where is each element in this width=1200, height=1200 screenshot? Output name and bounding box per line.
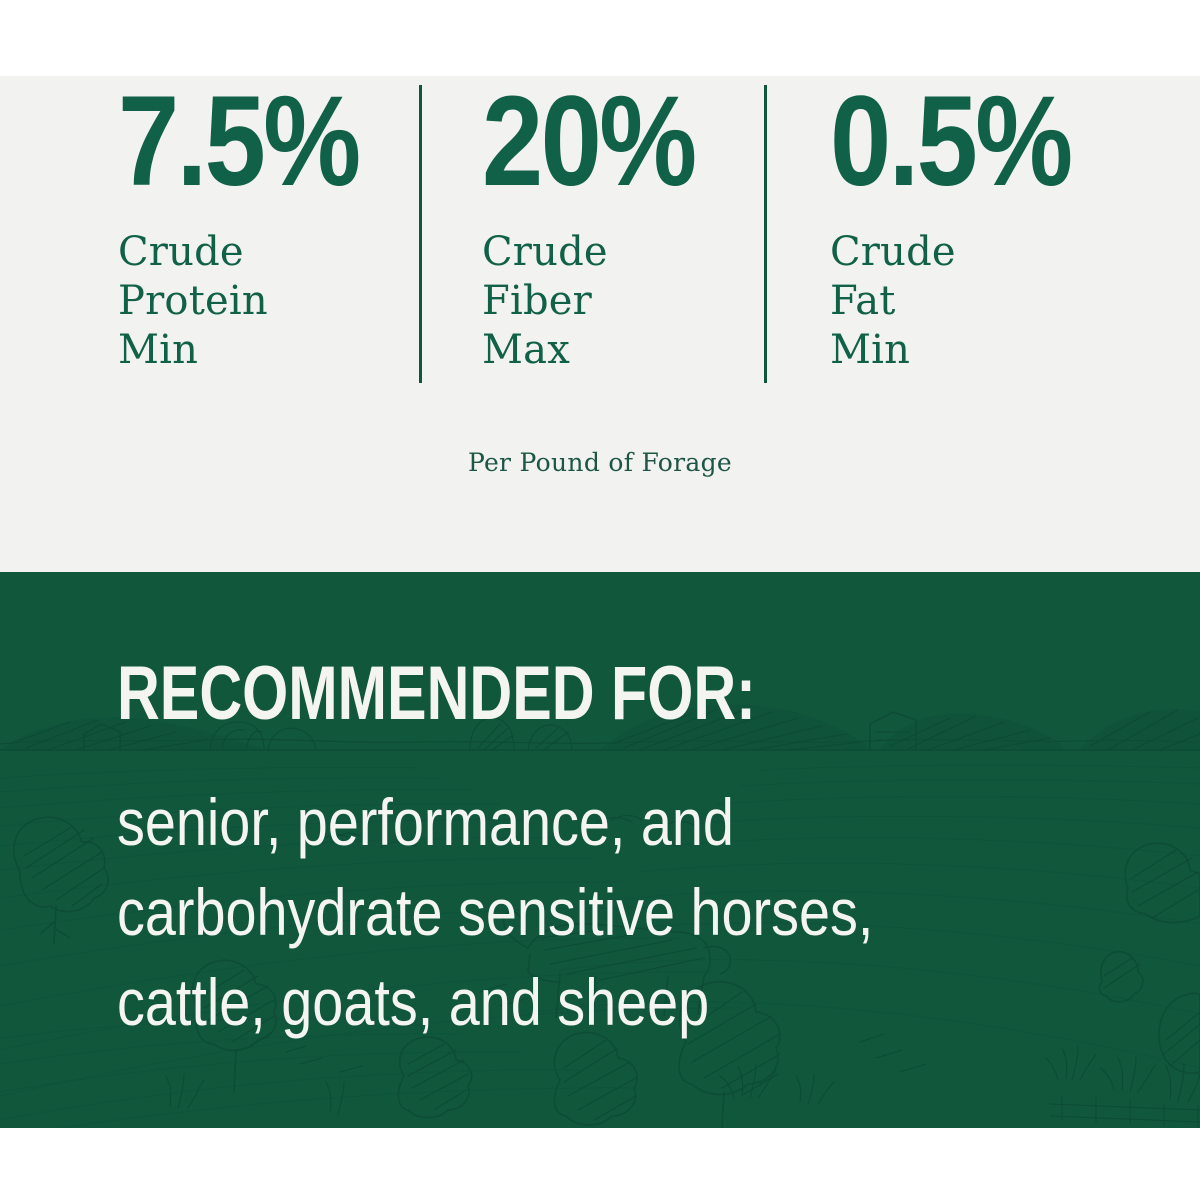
- recommended-body-line: carbohydrate sensitive horses,: [117, 867, 1021, 957]
- stat-label-crude-fiber: Crude Fiber Max: [482, 206, 765, 374]
- stat-crude-protein: 7.5% Crude Protein Min: [0, 76, 420, 374]
- stat-label-line: Min: [118, 326, 420, 375]
- stats-row: 7.5% Crude Protein Min 20% Crude Fiber M…: [0, 76, 1200, 396]
- stat-label-line: Fat: [830, 277, 1200, 326]
- stat-label-line: Fiber: [482, 277, 765, 326]
- stat-label-line: Crude: [830, 228, 1200, 277]
- stat-label-crude-fat: Crude Fat Min: [830, 206, 1200, 374]
- stat-crude-fiber: 20% Crude Fiber Max: [420, 76, 765, 374]
- stat-label-line: Crude: [482, 228, 765, 277]
- product-detail-panel: 7.5% Crude Protein Min 20% Crude Fiber M…: [0, 0, 1200, 1200]
- stat-label-line: Crude: [118, 228, 420, 277]
- stat-label-crude-protein: Crude Protein Min: [118, 206, 420, 374]
- per-pound-footnote: Per Pound of Forage: [0, 448, 1200, 477]
- guaranteed-analysis-panel: 7.5% Crude Protein Min 20% Crude Fiber M…: [0, 76, 1200, 572]
- recommended-body-line: senior, performance, and: [117, 777, 1021, 867]
- recommended-body: senior, performance, and carbohydrate se…: [117, 777, 1021, 1047]
- stat-label-line: Protein: [118, 277, 420, 326]
- stat-label-line: Min: [830, 326, 1200, 375]
- stat-value-crude-protein: 7.5%: [118, 76, 378, 206]
- recommended-for-panel: .ln { stroke:#0c4a33; stroke-width:1.1; …: [0, 572, 1200, 1128]
- stat-value-crude-fiber: 20%: [482, 76, 725, 206]
- stat-divider-1: [419, 85, 422, 383]
- stat-divider-2: [764, 85, 767, 383]
- stat-crude-fat: 0.5% Crude Fat Min: [765, 76, 1200, 374]
- stat-label-line: Max: [482, 326, 765, 375]
- stat-value-crude-fat: 0.5%: [830, 76, 1148, 206]
- recommended-body-line: cattle, goats, and sheep: [117, 957, 1021, 1047]
- recommended-heading: RECOMMENDED FOR:: [117, 656, 756, 732]
